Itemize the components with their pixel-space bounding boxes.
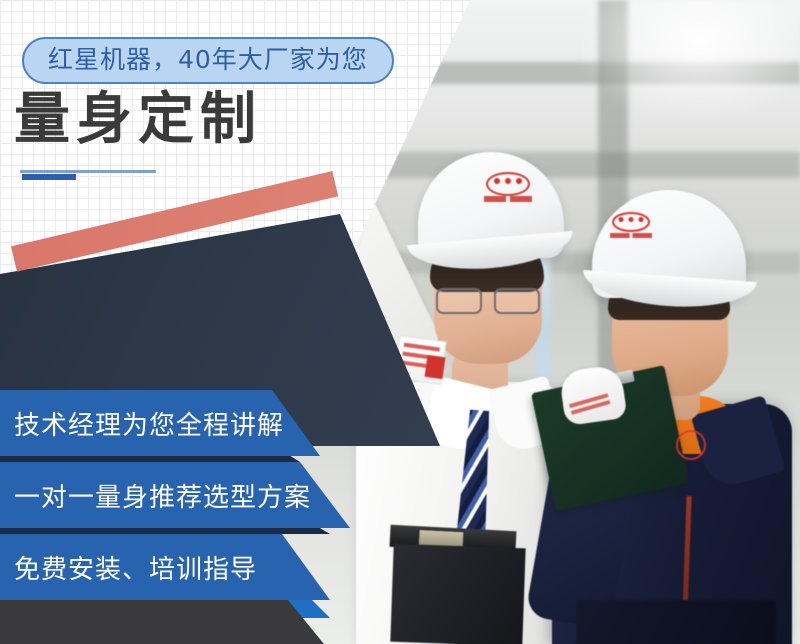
engineer-badge-mark xyxy=(425,355,446,379)
helmet-logo-dots xyxy=(494,178,522,184)
title-underline-dark xyxy=(22,174,76,180)
engineer-trousers xyxy=(390,544,525,644)
helmet-logo-icon xyxy=(486,172,530,196)
tagline-badge: 红星机器，40年大厂家为您 xyxy=(22,37,394,84)
technician-chest-badge xyxy=(676,430,706,460)
feature-bar-1-label: 技术经理为您全程讲解 xyxy=(14,405,284,442)
feature-bar-3-label: 免费安装、培训指导 xyxy=(14,549,257,586)
helmet-logo-text xyxy=(484,196,532,202)
helmet-logo-oval xyxy=(612,212,650,232)
feature-bar-3: 免费安装、培训指导 xyxy=(0,534,330,600)
promo-banner: 红星机器，40年大厂家为您 量身定制 技术经理为您全程讲解 一对一量身推荐选型方… xyxy=(0,0,800,644)
title-underline-light xyxy=(20,170,156,173)
glasses-icon xyxy=(436,288,540,310)
helmet-logo-text xyxy=(610,233,652,238)
feature-bar-2: 一对一量身推荐选型方案 xyxy=(0,462,350,528)
technician-trousers xyxy=(576,600,776,644)
feature-bar-2-label: 一对一量身推荐选型方案 xyxy=(14,477,311,514)
feature-bar-1: 技术经理为您全程讲解 xyxy=(0,390,320,456)
helmet-logo-dots xyxy=(618,217,644,222)
helmet-logo-icon xyxy=(612,212,650,232)
helmet-logo-oval xyxy=(486,172,530,196)
footer-gray-band xyxy=(0,600,324,644)
page-title: 量身定制 xyxy=(14,92,262,148)
